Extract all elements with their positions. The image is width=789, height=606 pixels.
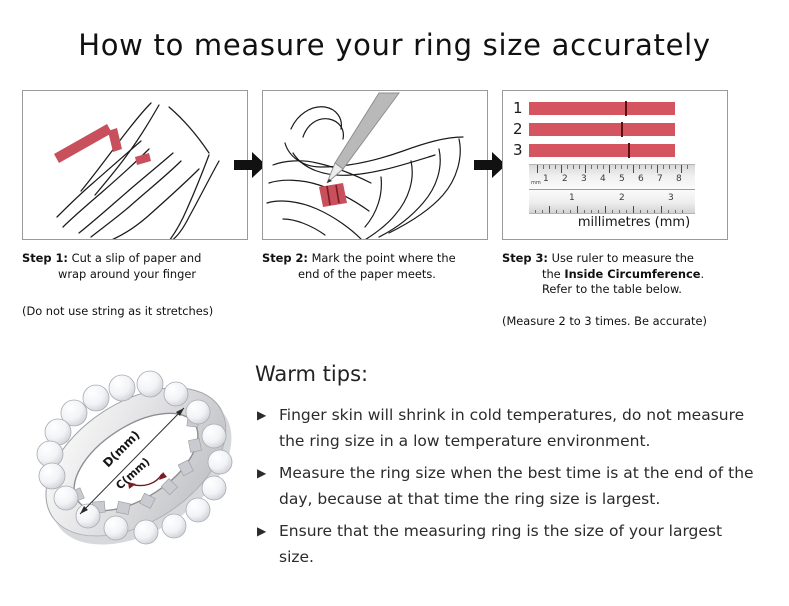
metric-tick-1: 1	[543, 174, 549, 184]
step-3-note: (Measure 2 to 3 times. Be accurate)	[502, 314, 730, 329]
metric-tick-5: 5	[619, 174, 625, 184]
inch-tick-3: 3	[668, 193, 674, 203]
ruler-unit-label: millimetres (mm)	[503, 215, 728, 230]
triangle-bullet-icon: ▶	[257, 402, 266, 428]
strip-number-1: 1	[513, 100, 529, 117]
step-2-panel	[262, 90, 488, 240]
step-3-line2-pre: the	[542, 267, 564, 281]
tip-text-2: Measure the ring size when the best time…	[279, 464, 754, 508]
paper-strip-row: 3	[513, 142, 719, 159]
paper-strip-row: 2	[513, 121, 719, 138]
paper-strip-1	[529, 102, 675, 115]
paper-strip-row: 1	[513, 100, 719, 117]
paper-band-on-finger-shape	[319, 183, 347, 207]
tip-item: ▶ Measure the ring size when the best ti…	[255, 460, 760, 512]
step-3-line1: Use ruler to measure the	[552, 251, 694, 265]
tip-item: ▶ Finger skin will shrink in cold temper…	[255, 402, 760, 454]
step-2-line2: end of the paper meets.	[262, 267, 490, 283]
steps-row: Step 1: Cut a slip of paper and wrap aro…	[0, 90, 789, 340]
step-3-column: 1 2 3	[502, 90, 730, 329]
step-2-caption: Step 2: Mark the point where the end of …	[262, 251, 490, 282]
paper-band-on-finger-shape	[108, 128, 151, 165]
metric-tick-6: 6	[638, 174, 644, 184]
hand-with-paper-strip-illustration	[23, 91, 248, 240]
step-2-line1: Mark the point where the	[312, 251, 456, 265]
strip-number-2: 2	[513, 121, 529, 138]
step-1-column: Step 1: Cut a slip of paper and wrap aro…	[22, 90, 250, 319]
strip-number-3: 3	[513, 142, 529, 159]
pencil-shape	[327, 93, 399, 183]
step-3-caption: Step 3: Use ruler to measure the the Ins…	[502, 251, 730, 298]
step-3-inside-circumference: Inside Circumference	[564, 267, 700, 281]
metric-tick-3: 3	[581, 174, 587, 184]
measured-paper-strips: 1 2 3	[513, 100, 719, 163]
tip-text-1: Finger skin will shrink in cold temperat…	[279, 406, 744, 450]
metric-unit-label: mm	[531, 178, 541, 188]
step-2-column: Step 2: Mark the point where the end of …	[262, 90, 490, 304]
ring-diagram: D(mm) C(mm)	[22, 358, 250, 573]
warm-tips-heading: Warm tips:	[255, 362, 760, 386]
page-title: How to measure your ring size accurately	[0, 28, 789, 62]
step-3-line3: Refer to the table below.	[502, 282, 730, 298]
tip-item: ▶ Ensure that the measuring ring is the …	[255, 518, 760, 570]
metric-tick-4: 4	[600, 174, 606, 184]
step-1-label: Step 1:	[22, 251, 68, 265]
step-3-line2-post: .	[700, 267, 704, 281]
measure-mark-2	[621, 122, 623, 137]
ruler-graphic: 1 2 3 4 5 6 7 8 mm	[529, 164, 695, 214]
step-3-panel: 1 2 3	[502, 90, 728, 240]
step-1-line2: wrap around your finger	[22, 267, 250, 283]
step-1-caption: Step 1: Cut a slip of paper and wrap aro…	[22, 251, 250, 282]
step-1-panel	[22, 90, 248, 240]
measure-mark-3	[628, 143, 630, 158]
metric-tick-8: 8	[676, 174, 682, 184]
paper-strip-2	[529, 123, 675, 136]
triangle-bullet-icon: ▶	[257, 460, 266, 486]
step-2-label: Step 2:	[262, 251, 308, 265]
triangle-bullet-icon: ▶	[257, 518, 266, 544]
step-1-note: (Do not use string as it stretches)	[22, 304, 250, 319]
measure-mark-1	[625, 101, 627, 116]
inch-tick-1: 1	[569, 193, 575, 203]
ruler-metric-scale: 1 2 3 4 5 6 7 8 mm	[529, 165, 695, 189]
inch-tick-2: 2	[619, 193, 625, 203]
metric-tick-2: 2	[562, 174, 568, 184]
step-3-line2: the Inside Circumference.	[502, 267, 730, 283]
step-1-line1: Cut a slip of paper and	[72, 251, 202, 265]
paper-strip-3	[529, 144, 675, 157]
tip-text-3: Ensure that the measuring ring is the si…	[279, 522, 722, 566]
hand-marking-paper-with-pencil-illustration	[263, 91, 488, 240]
paper-strip-shape	[54, 124, 112, 163]
metric-tick-7: 7	[657, 174, 663, 184]
eternity-ring-illustration: D(mm) C(mm)	[22, 358, 250, 573]
lower-section: D(mm) C(mm) Warm tips: ▶ Finger skin wil…	[0, 350, 789, 606]
warm-tips-block: Warm tips: ▶ Finger skin will shrink in …	[255, 362, 760, 576]
ruler-inch-scale: 1 2 3	[529, 189, 695, 214]
step-3-label: Step 3:	[502, 251, 548, 265]
